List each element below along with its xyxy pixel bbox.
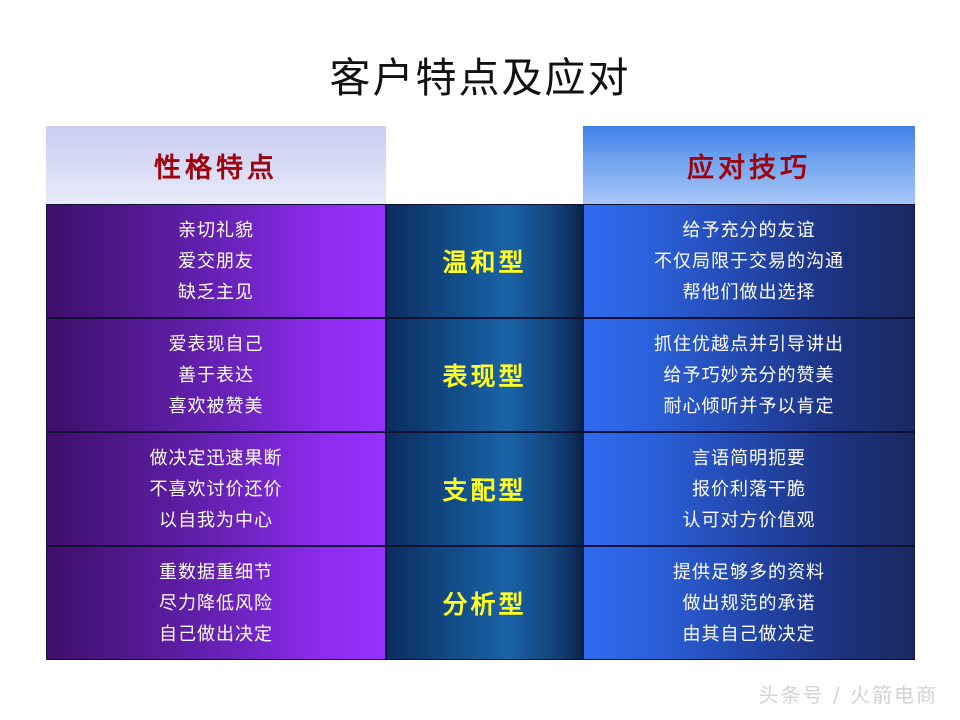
trait-line: 不喜欢讨价还价 — [150, 474, 283, 505]
tactics-cell: 提供足够多的资料 做出规范的承诺 由其自己做决定 — [583, 546, 915, 660]
type-label: 支配型 — [442, 471, 526, 507]
header-cell-traits: 性格特点 — [46, 126, 386, 204]
traits-cell: 爱表现自己 善于表达 喜欢被赞美 — [46, 318, 386, 432]
header-label-traits: 性格特点 — [154, 146, 278, 185]
trait-line: 爱表现自己 — [169, 329, 264, 360]
tactics-cell: 言语简明扼要 报价利落干脆 认可对方价值观 — [583, 432, 915, 546]
tactic-line: 帮他们做出选择 — [683, 277, 816, 308]
tactic-line: 给予充分的友谊 — [683, 215, 816, 246]
type-cell: 分析型 — [386, 546, 583, 660]
trait-line: 尽力降低风险 — [159, 588, 273, 619]
trait-line: 做决定迅速果断 — [150, 443, 283, 474]
tactics-cell: 给予充分的友谊 不仅局限于交易的沟通 帮他们做出选择 — [583, 204, 915, 318]
type-cell: 温和型 — [386, 204, 583, 318]
table-row: 重数据重细节 尽力降低风险 自己做出决定 分析型 提供足够多的资料 做出规范的承… — [46, 546, 915, 660]
tactic-line: 认可对方价值观 — [683, 505, 816, 536]
table-header-row: 性格特点 应对技巧 — [46, 126, 915, 204]
customer-type-matrix: 性格特点 应对技巧 亲切礼貌 爱交朋友 缺乏主见 温和型 给予充分的友谊 不仅局… — [46, 126, 915, 660]
table-row: 做决定迅速果断 不喜欢讨价还价 以自我为中心 支配型 言语简明扼要 报价利落干脆… — [46, 432, 915, 546]
header-label-tactics: 应对技巧 — [687, 146, 811, 185]
header-cell-type — [386, 126, 583, 204]
tactic-line: 不仅局限于交易的沟通 — [654, 246, 844, 277]
type-cell: 表现型 — [386, 318, 583, 432]
trait-line: 善于表达 — [178, 360, 254, 391]
slide-canvas: 客户特点及应对 性格特点 应对技巧 亲切礼貌 爱交朋友 缺乏主见 温和型 — [0, 0, 960, 720]
table-row: 爱表现自己 善于表达 喜欢被赞美 表现型 抓住优越点并引导讲出 给予巧妙充分的赞… — [46, 318, 915, 432]
watermark: 头条号 / 火箭电商 — [759, 679, 938, 708]
trait-line: 爱交朋友 — [178, 246, 254, 277]
traits-cell: 做决定迅速果断 不喜欢讨价还价 以自我为中心 — [46, 432, 386, 546]
type-label: 表现型 — [442, 357, 526, 393]
trait-line: 缺乏主见 — [178, 277, 254, 308]
tactic-line: 耐心倾听并予以肯定 — [664, 391, 835, 422]
trait-line: 以自我为中心 — [159, 505, 273, 536]
tactic-line: 由其自己做决定 — [683, 619, 816, 650]
type-label: 分析型 — [442, 585, 526, 621]
type-cell: 支配型 — [386, 432, 583, 546]
tactic-line: 报价利落干脆 — [692, 474, 806, 505]
trait-line: 喜欢被赞美 — [169, 391, 264, 422]
traits-cell: 重数据重细节 尽力降低风险 自己做出决定 — [46, 546, 386, 660]
traits-cell: 亲切礼貌 爱交朋友 缺乏主见 — [46, 204, 386, 318]
tactic-line: 抓住优越点并引导讲出 — [654, 329, 844, 360]
trait-line: 亲切礼貌 — [178, 215, 254, 246]
tactic-line: 做出规范的承诺 — [683, 588, 816, 619]
tactic-line: 言语简明扼要 — [692, 443, 806, 474]
tactic-line: 提供足够多的资料 — [673, 557, 825, 588]
page-title: 客户特点及应对 — [0, 52, 960, 104]
table-row: 亲切礼貌 爱交朋友 缺乏主见 温和型 给予充分的友谊 不仅局限于交易的沟通 帮他… — [46, 204, 915, 318]
trait-line: 重数据重细节 — [159, 557, 273, 588]
trait-line: 自己做出决定 — [159, 619, 273, 650]
tactics-cell: 抓住优越点并引导讲出 给予巧妙充分的赞美 耐心倾听并予以肯定 — [583, 318, 915, 432]
header-cell-tactics: 应对技巧 — [583, 126, 915, 204]
tactic-line: 给予巧妙充分的赞美 — [664, 360, 835, 391]
type-label: 温和型 — [442, 243, 526, 279]
